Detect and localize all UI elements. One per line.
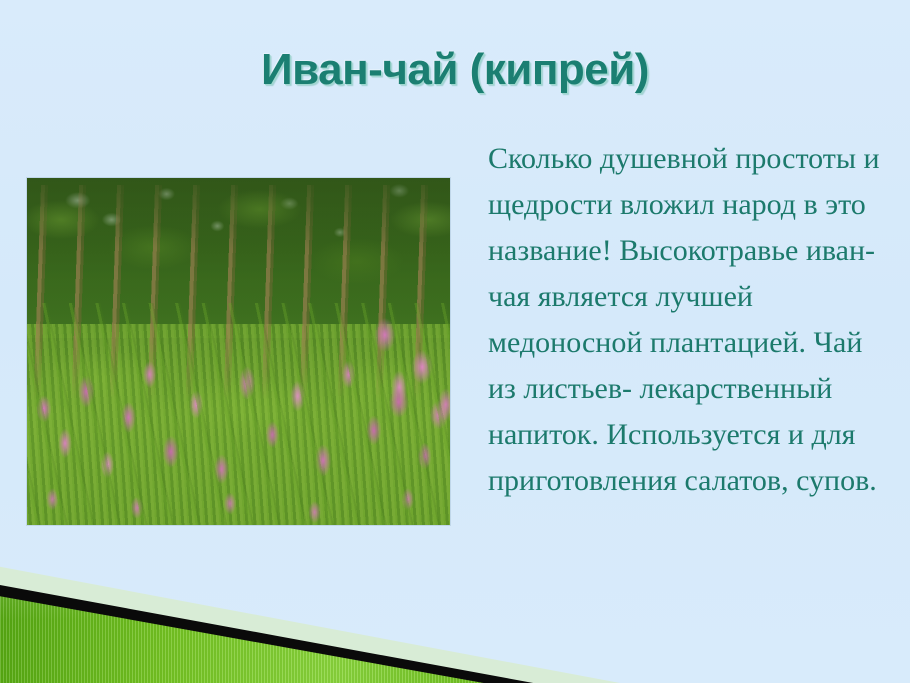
fireweed-photo xyxy=(27,178,450,525)
photo-canvas xyxy=(27,178,450,525)
body-paragraph: Сколько душевной простоты и щедрости вло… xyxy=(488,136,888,504)
photo-layer-tone xyxy=(27,178,450,525)
presentation-slide: Иван-чай (кипрей) Сколько душевной прост… xyxy=(0,0,910,683)
page-title: Иван-чай (кипрей) xyxy=(0,44,910,96)
